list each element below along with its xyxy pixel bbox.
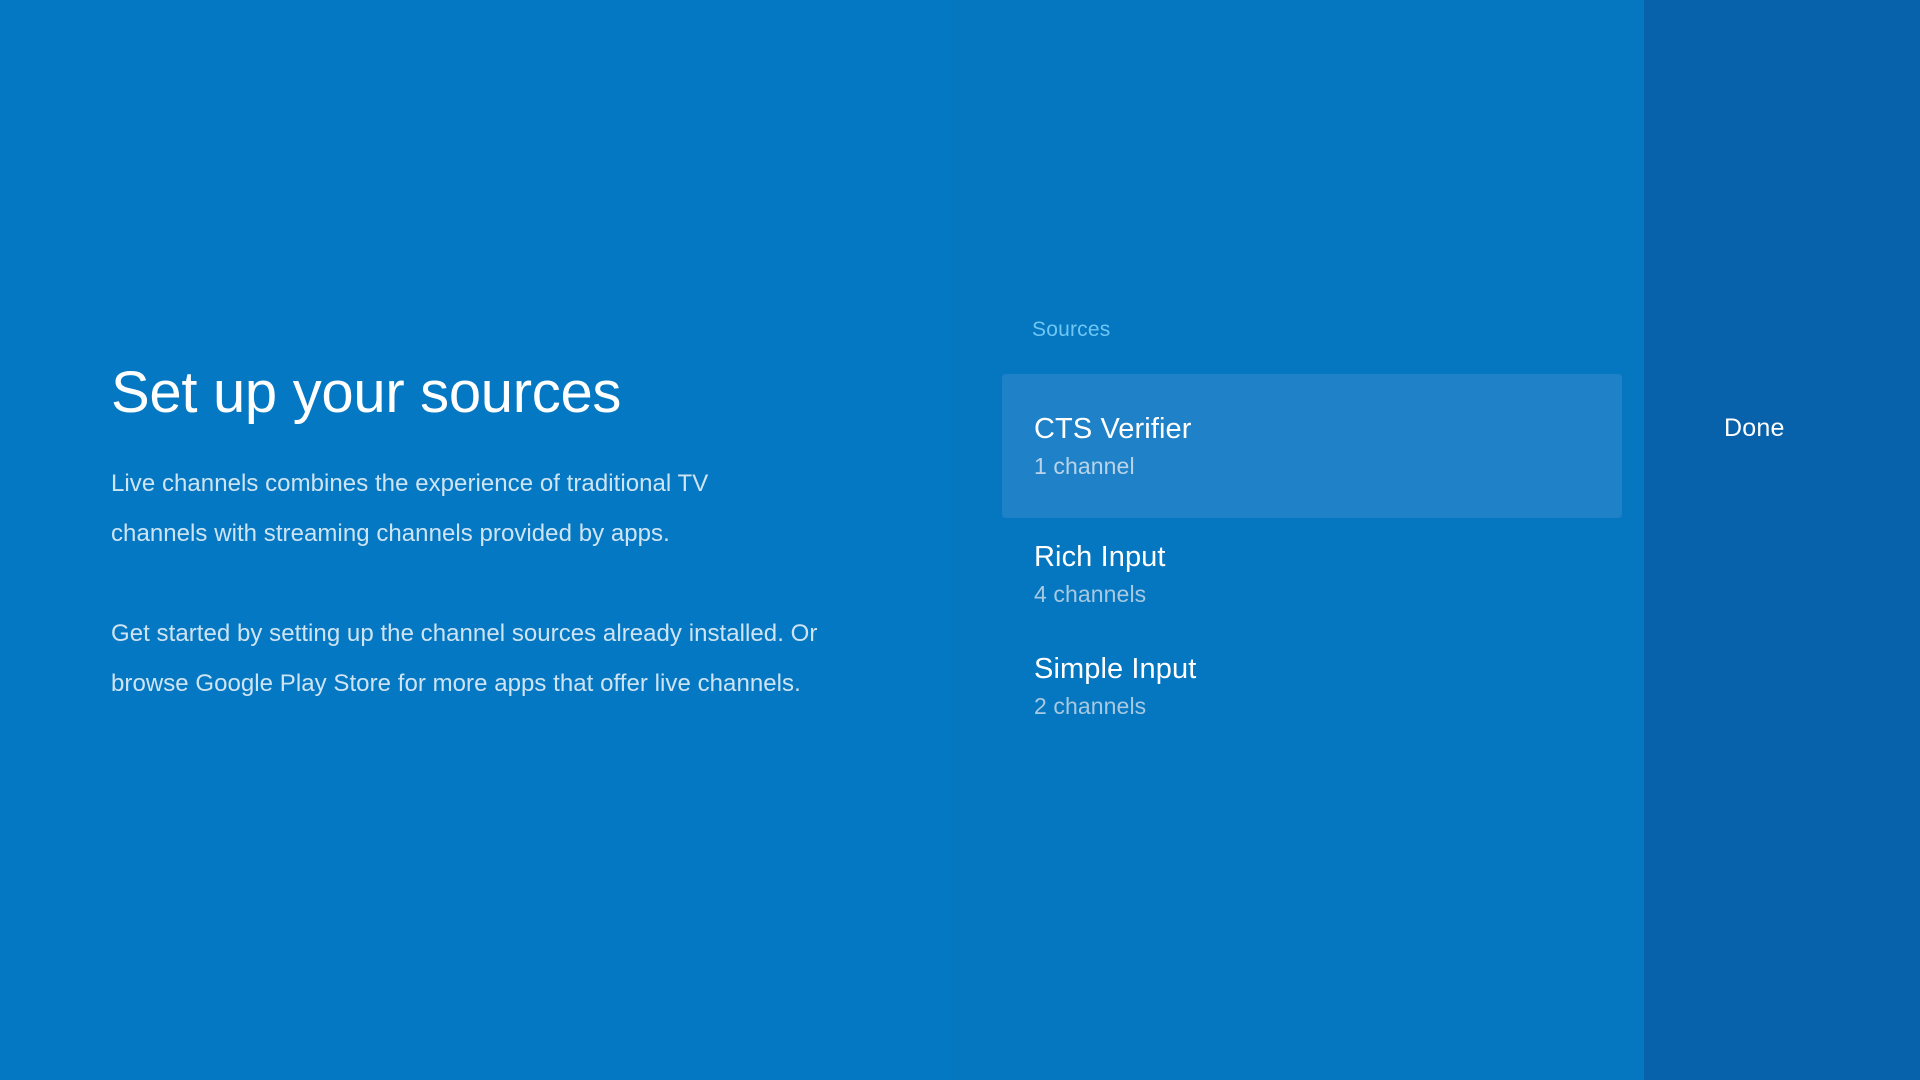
sources-list: CTS Verifier 1 channel Rich Input 4 chan… [1030,374,1630,742]
info-column: Set up your sources Live channels combin… [111,360,901,709]
sources-column: Sources CTS Verifier 1 channel Rich Inpu… [1030,318,1630,742]
page-title: Set up your sources [111,360,901,427]
source-name: CTS Verifier [1034,412,1622,446]
source-name: Rich Input [1034,540,1622,574]
list-item[interactable]: Rich Input 4 channels [1002,518,1622,630]
source-name: Simple Input [1034,652,1622,686]
source-channel-count: 4 channels [1034,580,1622,608]
list-item[interactable]: Simple Input 2 channels [1002,630,1622,742]
action-column: Done [1644,0,1920,1080]
done-button[interactable]: Done [1714,408,1795,449]
info-paragraph-1: Live channels combines the experience of… [111,459,811,559]
source-channel-count: 1 channel [1034,452,1622,480]
setup-sources-screen: Set up your sources Live channels combin… [0,0,1920,1080]
sources-section-label: Sources [1030,318,1630,342]
info-paragraph-2: Get started by setting up the channel so… [111,609,891,709]
source-channel-count: 2 channels [1034,692,1622,720]
list-item[interactable]: CTS Verifier 1 channel [1002,374,1622,518]
